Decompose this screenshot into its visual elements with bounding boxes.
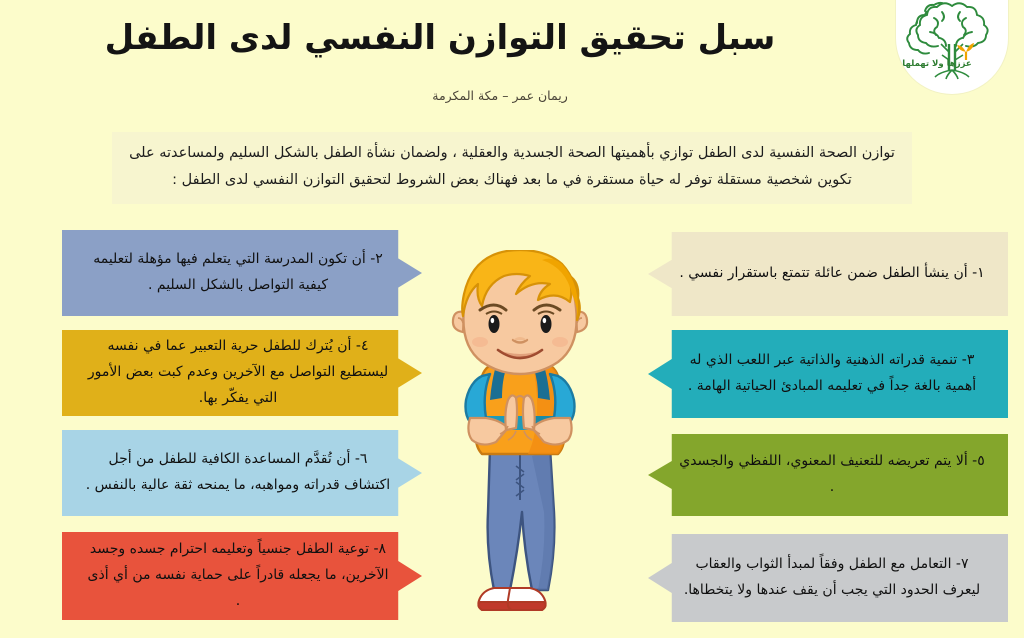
infographic-canvas: عززها ولا تهملها سبل تحقيق التوازن النفس… bbox=[0, 0, 1024, 638]
callout-item-4-text: ٤- أن يُترك للطفل حرية التعبير عما في نف… bbox=[84, 334, 392, 412]
callout-item-5-text: ٥- ألا يتم تعريضه للتعنيف المعنوي، اللفظ… bbox=[678, 449, 986, 501]
callout-item-4: ٤- أن يُترك للطفل حرية التعبير عما في نف… bbox=[62, 330, 422, 416]
callout-item-8-text: ٨- توعية الطفل جنسياً وتعليمه احترام جسد… bbox=[84, 537, 392, 615]
intro-paragraph: توازن الصحة النفسية لدى الطفل توازي بأهم… bbox=[112, 132, 912, 204]
brain-tree-icon bbox=[896, 0, 1008, 86]
callout-item-5: ٥- ألا يتم تعريضه للتعنيف المعنوي، اللفظ… bbox=[648, 434, 1008, 516]
callout-item-2: ٢- أن تكون المدرسة التي يتعلم فيها مؤهلة… bbox=[62, 230, 422, 316]
callout-item-8: ٨- توعية الطفل جنسياً وتعليمه احترام جسد… bbox=[62, 532, 422, 620]
callout-item-1-text: ١- أن ينشأ الطفل ضمن عائلة تتمتع باستقرا… bbox=[678, 261, 986, 287]
logo-slogan: عززها ولا تهملها bbox=[902, 60, 972, 69]
callout-item-6-text: ٦- أن تُقدَّم المساعدة الكافية للطفل من … bbox=[84, 447, 392, 499]
page-title: سبل تحقيق التوازن النفسي لدى الطفل bbox=[0, 18, 880, 58]
byline: ريمان عمر – مكة المكرمة bbox=[0, 88, 1024, 103]
callout-item-1: ١- أن ينشأ الطفل ضمن عائلة تتمتع باستقرا… bbox=[648, 232, 1008, 316]
logo-badge: عززها ولا تهملها bbox=[896, 0, 1008, 94]
shy-boy-illustration bbox=[420, 250, 620, 635]
callout-item-7-text: ٧- التعامل مع الطفل وفقاً لمبدأ الثواب و… bbox=[678, 552, 986, 604]
callout-item-2-text: ٢- أن تكون المدرسة التي يتعلم فيها مؤهلة… bbox=[84, 247, 392, 299]
callout-item-3: ٣- تنمية قدراته الذهنية والذاتية عبر الل… bbox=[648, 330, 1008, 418]
callout-item-3-text: ٣- تنمية قدراته الذهنية والذاتية عبر الل… bbox=[678, 348, 986, 400]
callout-item-7: ٧- التعامل مع الطفل وفقاً لمبدأ الثواب و… bbox=[648, 534, 1008, 622]
callout-item-6: ٦- أن تُقدَّم المساعدة الكافية للطفل من … bbox=[62, 430, 422, 516]
